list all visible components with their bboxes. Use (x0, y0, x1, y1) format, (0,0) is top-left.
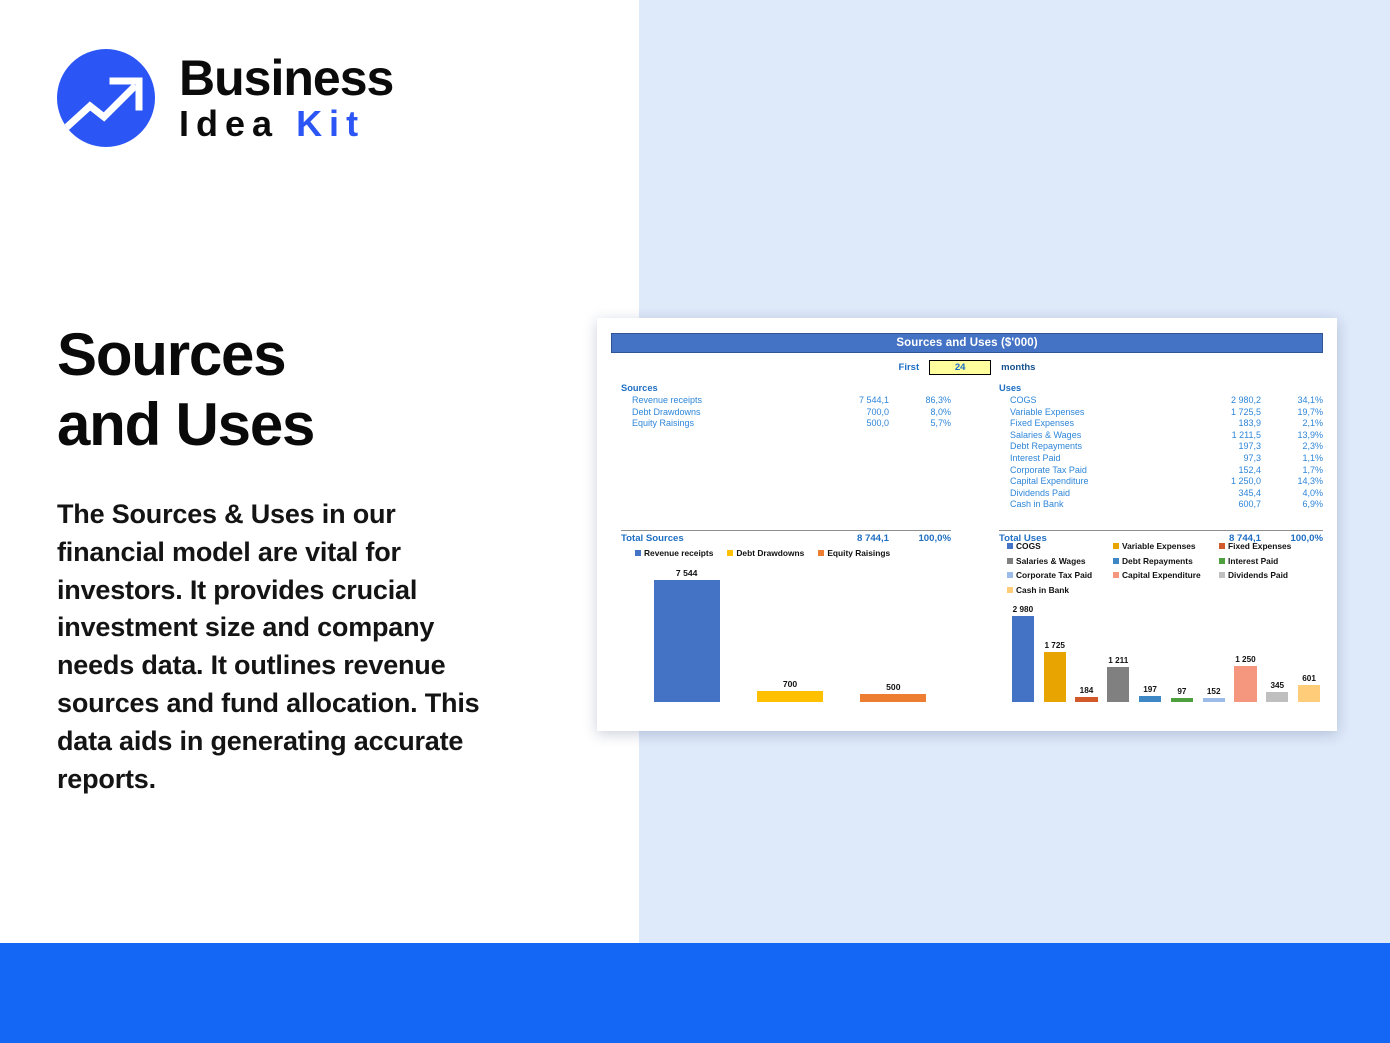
spreadsheet-title: Sources and Uses ($'000) (611, 333, 1323, 353)
legend-label: Variable Expenses (1122, 541, 1196, 551)
row-percent: 1,7% (1261, 465, 1323, 477)
table-row: Revenue receipts 7 544,1 86,3% (621, 395, 951, 407)
row-value: 600,7 (1183, 499, 1261, 511)
legend-item: Interest Paid (1219, 556, 1325, 566)
bar (1139, 696, 1161, 702)
legend-swatch-icon (635, 550, 641, 556)
period-selector: First 24 months (611, 359, 1323, 375)
row-percent: 5,7% (889, 418, 951, 430)
row-value: 152,4 (1183, 465, 1261, 477)
bar-column: 2 980 (1007, 589, 1039, 702)
table-row: COGS2 980,234,1% (999, 395, 1323, 407)
row-value: 1 725,5 (1183, 407, 1261, 419)
spreadsheet-sheet: Sources and Uses ($'000) First 24 months… (611, 333, 1323, 718)
row-label: Variable Expenses (999, 407, 1183, 419)
bar-column: 500 (842, 557, 945, 702)
bar-value-label: 700 (783, 679, 797, 689)
legend-swatch-icon (1219, 558, 1225, 564)
row-label: Debt Drawdowns (621, 407, 811, 419)
table-row: Salaries & Wages1 211,513,9% (999, 430, 1323, 442)
bar-column: 1 211 (1102, 589, 1134, 702)
bar-column: 184 (1071, 589, 1103, 702)
bar-value-label: 1 725 (1044, 641, 1065, 650)
legend-swatch-icon (818, 550, 824, 556)
row-label: Debt Repayments (999, 441, 1183, 453)
legend-item: COGS (1007, 541, 1113, 551)
legend-item: Debt Repayments (1113, 556, 1219, 566)
row-percent: 2,1% (1261, 418, 1323, 430)
table-row: Debt Drawdowns 700,0 8,0% (621, 407, 951, 419)
uses-table-header: Uses (999, 383, 1323, 393)
bar-column: 97 (1166, 589, 1198, 702)
page-description: The Sources & Uses in our financial mode… (57, 496, 507, 798)
bar-column: 197 (1134, 589, 1166, 702)
bar (757, 691, 823, 702)
brand-name-line2: Idea Kit (179, 105, 393, 143)
row-percent: 14,3% (1261, 476, 1323, 488)
row-label: Equity Raisings (621, 418, 811, 430)
legend-label: COGS (1016, 541, 1041, 551)
bar-value-label: 2 980 (1013, 605, 1034, 614)
bar-value-label: 7 544 (676, 568, 698, 578)
row-percent: 13,9% (1261, 430, 1323, 442)
legend-swatch-icon (1113, 572, 1119, 578)
brand-name-kit: Kit (296, 103, 365, 144)
footer-bar (0, 943, 1390, 1043)
legend-label: Fixed Expenses (1228, 541, 1291, 551)
legend-swatch-icon (1007, 558, 1013, 564)
bar (1107, 667, 1129, 702)
row-percent: 86,3% (889, 395, 951, 407)
sources-total-row: Total Sources 8 744,1 100,0% (621, 530, 951, 545)
table-row: Cash in Bank600,76,9% (999, 499, 1323, 511)
bar-column: 1 725 (1039, 589, 1071, 702)
brand-logo: Business Idea Kit (57, 49, 393, 147)
total-percent: 100,0% (889, 533, 951, 545)
row-percent: 6,9% (1261, 499, 1323, 511)
row-label: Interest Paid (999, 453, 1183, 465)
uses-table: Uses COGS2 980,234,1% Variable Expenses1… (999, 383, 1323, 511)
bar-value-label: 197 (1143, 685, 1157, 694)
table-row: Debt Repayments197,32,3% (999, 441, 1323, 453)
bar-value-label: 345 (1270, 681, 1284, 690)
sources-plot-area: 7 544700500 (635, 557, 945, 702)
uses-bar-chart: 2 9801 7251841 211197971521 250345601 (1007, 603, 1325, 716)
bar-value-label: 152 (1207, 687, 1221, 696)
page-title: Sources and Uses (57, 320, 577, 460)
table-row: Dividends Paid345,44,0% (999, 488, 1323, 500)
bar-column: 601 (1293, 589, 1325, 702)
legend-label: Dividends Paid (1228, 570, 1288, 580)
legend-label: Interest Paid (1228, 556, 1278, 566)
bar (860, 694, 926, 702)
bar (1298, 685, 1320, 702)
row-percent: 8,0% (889, 407, 951, 419)
row-percent: 1,1% (1261, 453, 1323, 465)
table-row: Fixed Expenses183,92,1% (999, 418, 1323, 430)
row-percent: 2,3% (1261, 441, 1323, 453)
legend-label: Capital Expenditure (1122, 570, 1201, 580)
row-value: 1 250,0 (1183, 476, 1261, 488)
legend-swatch-icon (1113, 543, 1119, 549)
legend-swatch-icon (1219, 572, 1225, 578)
bar (1171, 698, 1193, 702)
bar-column: 152 (1198, 589, 1230, 702)
period-months-input[interactable]: 24 (929, 360, 991, 375)
bar-value-label: 1 211 (1108, 656, 1128, 665)
bar (654, 580, 720, 702)
row-percent: 34,1% (1261, 395, 1323, 407)
bar-column: 700 (738, 557, 841, 702)
bar-value-label: 1 250 (1235, 655, 1256, 664)
bar (1203, 698, 1225, 702)
bar-value-label: 184 (1080, 686, 1094, 695)
legend-item: Dividends Paid (1219, 570, 1325, 580)
legend-label: Salaries & Wages (1016, 556, 1086, 566)
table-row: Capital Expenditure1 250,014,3% (999, 476, 1323, 488)
row-value: 2 980,2 (1183, 395, 1261, 407)
bar (1075, 697, 1097, 702)
legend-swatch-icon (1007, 572, 1013, 578)
row-value: 97,3 (1183, 453, 1261, 465)
row-label: Cash in Bank (999, 499, 1183, 511)
bar-column: 7 544 (635, 557, 738, 702)
legend-label: Debt Repayments (1122, 556, 1193, 566)
growth-arrow-icon (57, 49, 155, 147)
row-value: 1 211,5 (1183, 430, 1261, 442)
legend-label: Corporate Tax Paid (1016, 570, 1092, 580)
sources-bar-chart: 7 544700500 (635, 571, 945, 716)
row-value: 197,3 (1183, 441, 1261, 453)
table-row: Equity Raisings 500,0 5,7% (621, 418, 951, 430)
brand-wordmark: Business Idea Kit (179, 53, 393, 143)
total-value: 8 744,1 (811, 533, 889, 545)
sources-table-header: Sources (621, 383, 951, 393)
bar (1234, 666, 1256, 702)
row-percent: 4,0% (1261, 488, 1323, 500)
total-label: Total Sources (621, 533, 811, 545)
legend-swatch-icon (727, 550, 733, 556)
bar-column: 345 (1261, 589, 1293, 702)
legend-item: Variable Expenses (1113, 541, 1219, 551)
row-value: 345,4 (1183, 488, 1261, 500)
bar-value-label: 601 (1302, 674, 1316, 683)
row-value: 7 544,1 (811, 395, 889, 407)
period-prefix-label: First (899, 362, 920, 373)
bar (1012, 616, 1034, 702)
legend-item: Capital Expenditure (1113, 570, 1219, 580)
row-label: Revenue receipts (621, 395, 811, 407)
legend-swatch-icon (1113, 558, 1119, 564)
row-percent: 19,7% (1261, 407, 1323, 419)
table-row: Corporate Tax Paid152,41,7% (999, 465, 1323, 477)
row-label: Capital Expenditure (999, 476, 1183, 488)
bar (1266, 692, 1288, 702)
legend-item: Corporate Tax Paid (1007, 570, 1113, 580)
row-value: 700,0 (811, 407, 889, 419)
legend-item: Fixed Expenses (1219, 541, 1325, 551)
brand-name-line1: Business (179, 53, 393, 103)
slide-canvas: Business Idea Kit Sources and Uses The S… (0, 0, 1390, 1043)
legend-item: Salaries & Wages (1007, 556, 1113, 566)
row-label: Fixed Expenses (999, 418, 1183, 430)
bar-value-label: 97 (1177, 687, 1186, 696)
brand-name-idea: Idea (179, 103, 279, 144)
row-label: Corporate Tax Paid (999, 465, 1183, 477)
row-label: Dividends Paid (999, 488, 1183, 500)
bar-column: 1 250 (1230, 589, 1262, 702)
table-row: Variable Expenses1 725,519,7% (999, 407, 1323, 419)
row-value: 183,9 (1183, 418, 1261, 430)
sources-table: Sources Revenue receipts 7 544,1 86,3% D… (621, 383, 951, 430)
uses-plot-area: 2 9801 7251841 211197971521 250345601 (1007, 589, 1325, 702)
table-row: Interest Paid97,31,1% (999, 453, 1323, 465)
period-suffix-label: months (1001, 362, 1035, 373)
legend-swatch-icon (1007, 543, 1013, 549)
bar-value-label: 500 (886, 682, 900, 692)
row-label: COGS (999, 395, 1183, 407)
bar (1044, 652, 1066, 702)
spreadsheet-screenshot-card: Sources and Uses ($'000) First 24 months… (597, 318, 1337, 731)
row-label: Salaries & Wages (999, 430, 1183, 442)
row-value: 500,0 (811, 418, 889, 430)
legend-swatch-icon (1219, 543, 1225, 549)
